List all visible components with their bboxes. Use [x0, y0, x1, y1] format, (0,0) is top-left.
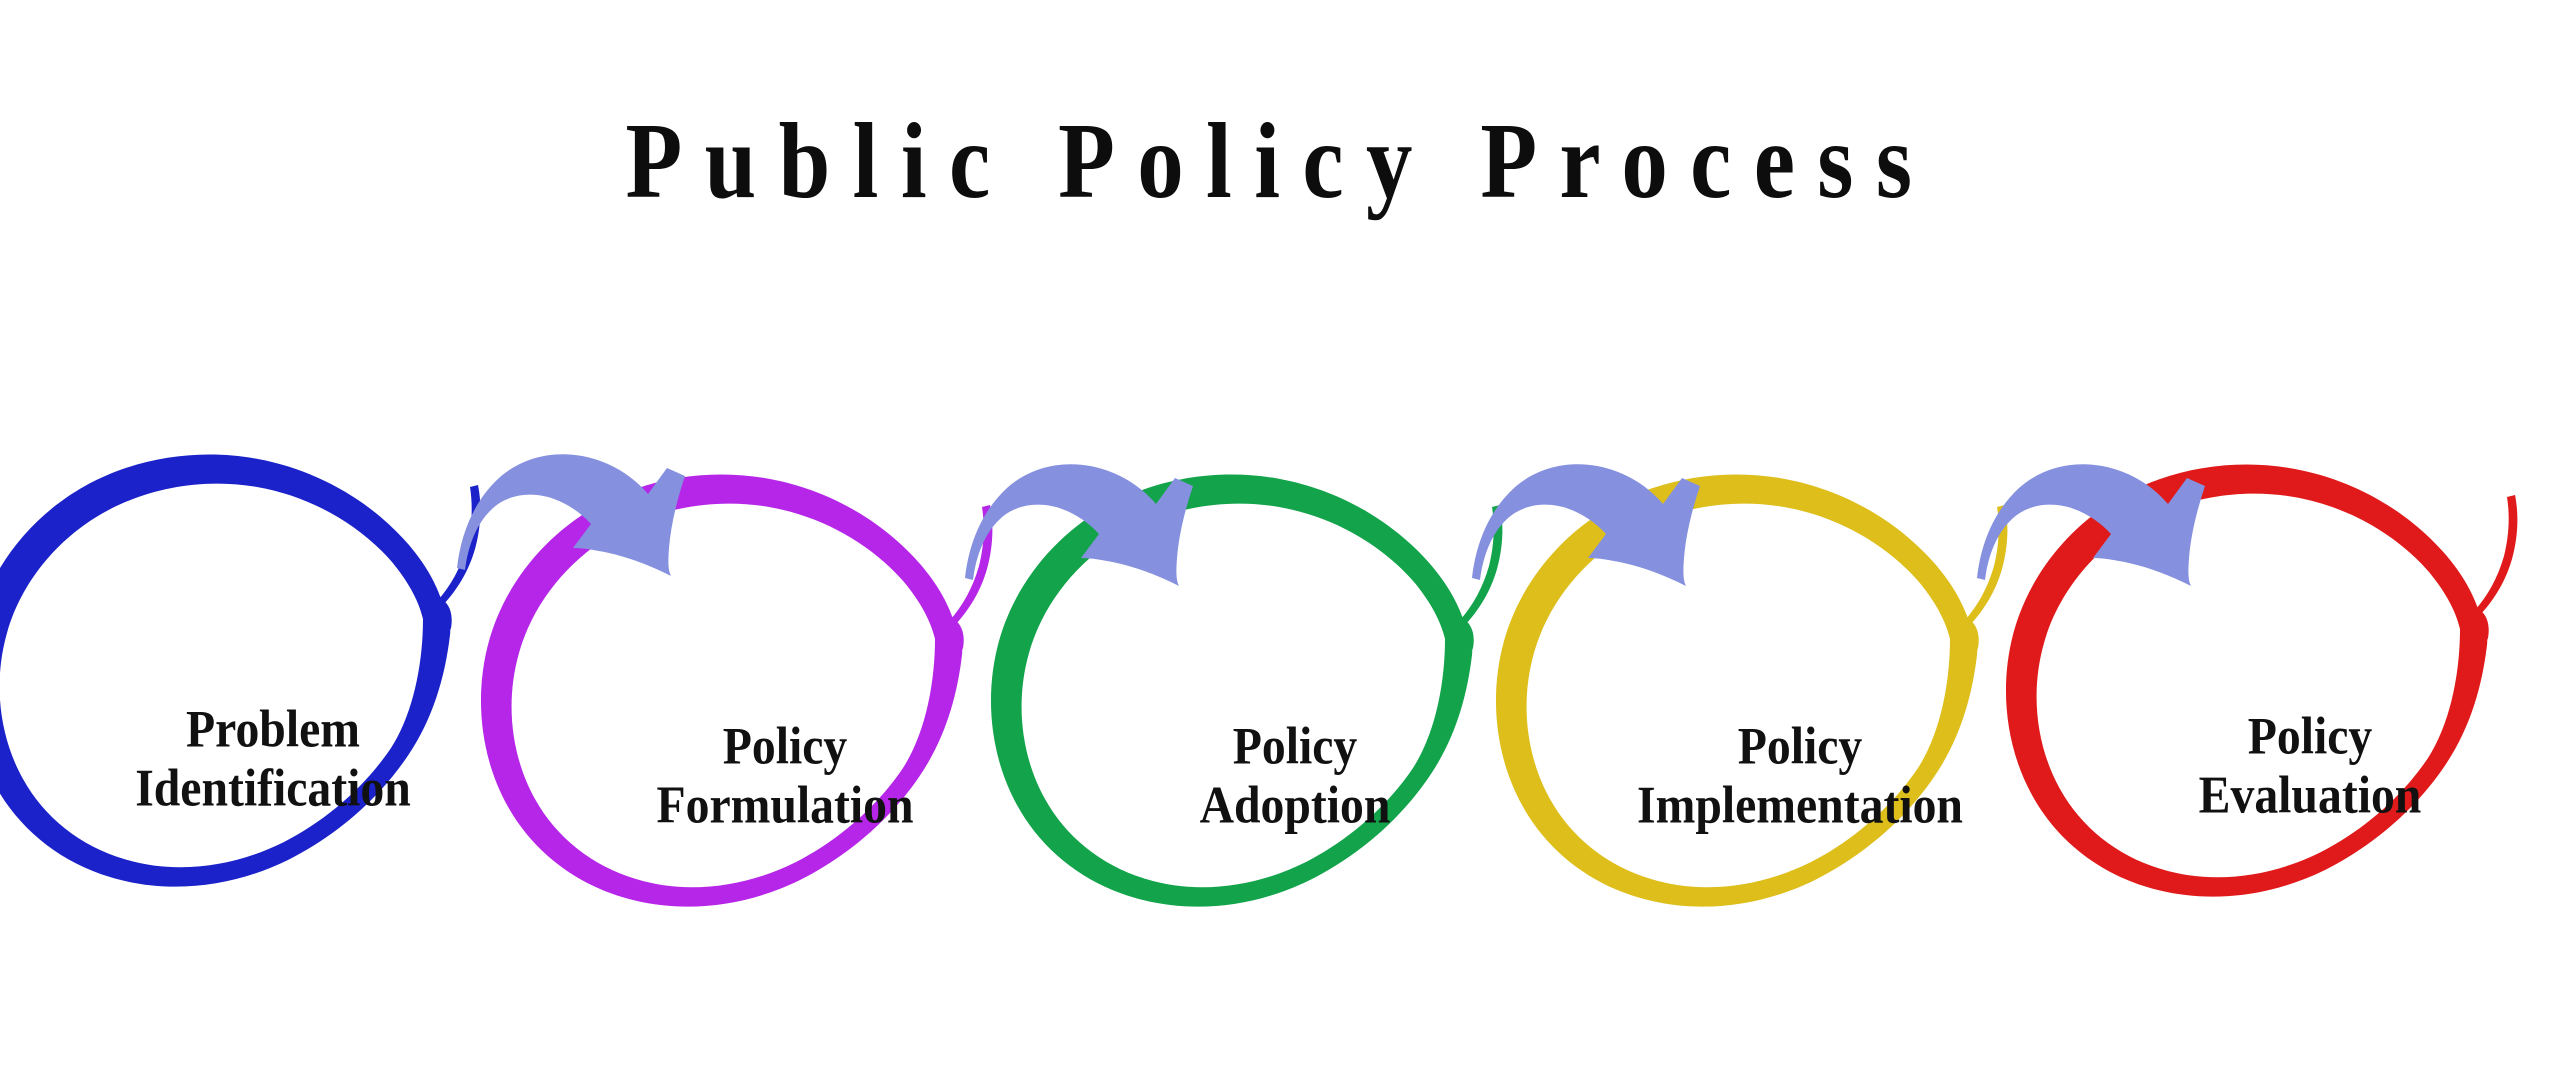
process-diagram	[0, 0, 2560, 1078]
stage-ring-policy-formulation[interactable]	[481, 474, 992, 906]
stage-ring-policy-implementation[interactable]	[1496, 474, 2007, 906]
diagram-canvas: Public Policy Process	[0, 0, 2560, 1078]
process-diagram-svg	[0, 0, 2560, 1078]
stage-ring-problem-identification[interactable]	[0, 454, 480, 886]
stage-ring-policy-adoption[interactable]	[991, 474, 1502, 906]
stage-ring-policy-evaluation[interactable]	[2006, 464, 2517, 896]
